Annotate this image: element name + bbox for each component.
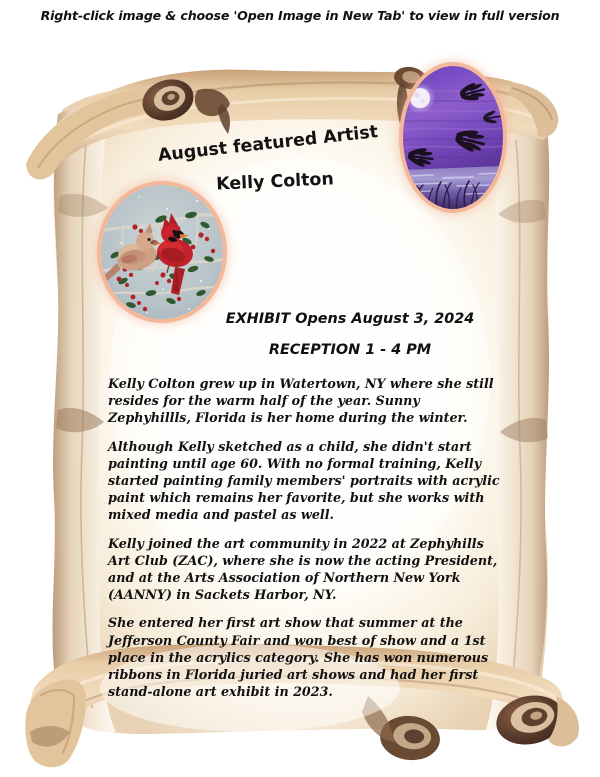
cardinals-winter-painting[interactable] <box>101 185 223 319</box>
bio-paragraph: Although Kelly sketched as a child, she … <box>108 438 500 524</box>
dragonflies-moonlit-painting[interactable] <box>403 66 503 209</box>
reception-time: RECEPTION 1 - 4 PM <box>200 342 500 358</box>
exhibit-opening-date: EXHIBIT Opens August 3, 2024 <box>200 311 500 327</box>
artist-biography: Kelly Colton grew up in Watertown, NY wh… <box>108 375 500 700</box>
bio-paragraph: Kelly Colton grew up in Watertown, NY wh… <box>108 375 500 427</box>
open-image-instruction-banner: Right-click image & choose 'Open Image i… <box>0 8 600 23</box>
bio-paragraph: Kelly joined the art community in 2022 a… <box>108 535 500 604</box>
bio-paragraph: She entered her first art show that summ… <box>108 614 500 700</box>
poster-container: Right-click image & choose 'Open Image i… <box>0 0 600 777</box>
